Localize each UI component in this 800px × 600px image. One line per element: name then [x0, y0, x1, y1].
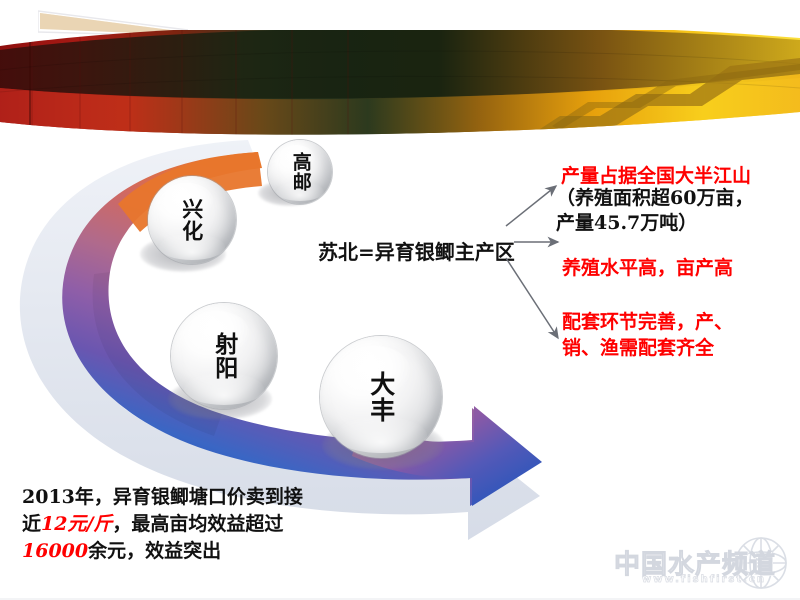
watermark-url: www.fishfirst.cn [642, 574, 766, 585]
sphere-gaoyou[interactable]: 高邮 [268, 140, 332, 204]
watermark: 中国水产频道 www.fishfirst.cn [600, 536, 795, 596]
bottom-note-text-3b: 余元，效益突出 [88, 540, 221, 562]
bottom-note-line-2: 近12元/斤，最高亩均效益超过 [22, 511, 303, 538]
sphere-label-sheyang: 射阳 [212, 332, 235, 380]
callout-3: 配套环节完善，产、 销、渔需配套齐全 [562, 310, 733, 361]
callout-1-headline: 产量占据全国大半江山 [561, 161, 751, 188]
bottom-note-profit: 16000 [22, 540, 88, 562]
sphere-xinghua[interactable]: 兴化 [148, 176, 236, 264]
slide-canvas: 高邮 兴化 射阳 大丰 苏北=异育银鲫主产区 产量占据全国大半江山 （养殖面积超… [0, 0, 800, 600]
bottom-note: 2013年，异育银鲫塘口价卖到接 近12元/斤，最高亩均效益超过 16000余元… [22, 484, 303, 565]
banner-graphic [0, 30, 800, 145]
bottom-note-line-3: 16000余元，效益突出 [22, 538, 303, 565]
sphere-label-xinghua: 兴化 [181, 198, 202, 242]
callout-3-line1: 配套环节完善，产、 [562, 310, 733, 336]
callout-1-detail: （养殖面积超60万亩， 产量45.7万吨） [556, 186, 753, 237]
bottom-note-price: 12元/斤 [41, 513, 112, 535]
bottom-note-text-1: 2013年，异育银鲫塘口价卖到接 [22, 486, 303, 508]
sphere-sheyang[interactable]: 射阳 [171, 303, 277, 409]
callout-3-line2: 销、渔需配套齐全 [562, 336, 733, 362]
callout-2-headline: 养殖水平高，亩产高 [562, 253, 733, 280]
bottom-note-text-2a: 近 [22, 513, 41, 535]
bottom-note-line-1: 2013年，异育银鲫塘口价卖到接 [22, 484, 303, 511]
callout-1-detail-line1: （养殖面积超60万亩， [556, 186, 753, 211]
arrow-to-callout-3 [506, 258, 558, 338]
callout-1-detail-line2: 产量45.7万吨） [556, 211, 753, 236]
sphere-label-gaoyou: 高邮 [290, 152, 309, 192]
sphere-dafeng[interactable]: 大丰 [320, 336, 442, 458]
bottom-note-text-2b: ，最高亩均效益超过 [112, 513, 283, 535]
sphere-label-dafeng: 大丰 [368, 371, 394, 423]
arrow-to-callout-1 [506, 186, 556, 226]
